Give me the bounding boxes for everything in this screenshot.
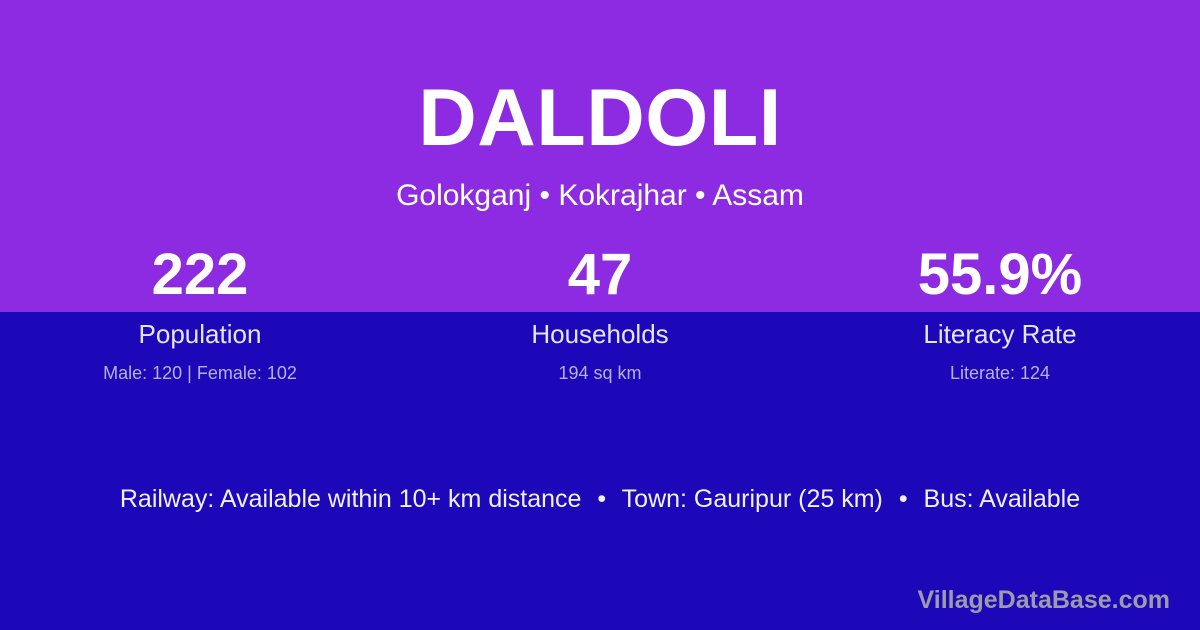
stat-sub-households: 194 sq km	[400, 364, 800, 384]
stat-block-population: 222 Population Male: 120 | Female: 102	[0, 246, 400, 383]
site-brand-label: VillageDataBase.com	[918, 585, 1170, 615]
info-separator-2: •	[890, 485, 917, 513]
breadcrumb: Golokganj • Kokrajhar • Assam	[0, 179, 1200, 212]
stat-label-literacy-rate: Literacy Rate	[800, 320, 1200, 349]
info-separator-1: •	[588, 485, 615, 513]
card-header: DALDOLI Golokganj • Kokrajhar • Assam	[0, 78, 1200, 212]
stat-value-households: 47	[400, 246, 800, 304]
village-info-card: DALDOLI Golokganj • Kokrajhar • Assam 22…	[0, 0, 1200, 630]
stat-value-population: 222	[0, 246, 400, 304]
stat-block-households: 47 Households 194 sq km	[400, 246, 800, 383]
stat-sub-literacy-rate: Literate: 124	[800, 364, 1200, 384]
stat-block-literacy-rate: 55.9% Literacy Rate Literate: 124	[800, 246, 1200, 383]
stat-sub-population: Male: 120 | Female: 102	[0, 364, 400, 384]
stat-value-literacy-rate: 55.9%	[800, 246, 1200, 304]
stats-row: 222 Population Male: 120 | Female: 102 4…	[0, 246, 1200, 383]
stat-label-population: Population	[0, 320, 400, 349]
info-town: Town: Gauripur (25 km)	[622, 485, 883, 513]
page-title: DALDOLI	[0, 78, 1200, 159]
amenities-info-line: Railway: Available within 10+ km distanc…	[0, 484, 1200, 514]
card-content: DALDOLI Golokganj • Kokrajhar • Assam 22…	[0, 0, 1200, 630]
info-bus: Bus: Available	[924, 485, 1081, 513]
info-railway: Railway: Available within 10+ km distanc…	[120, 485, 582, 513]
stat-label-households: Households	[400, 320, 800, 349]
